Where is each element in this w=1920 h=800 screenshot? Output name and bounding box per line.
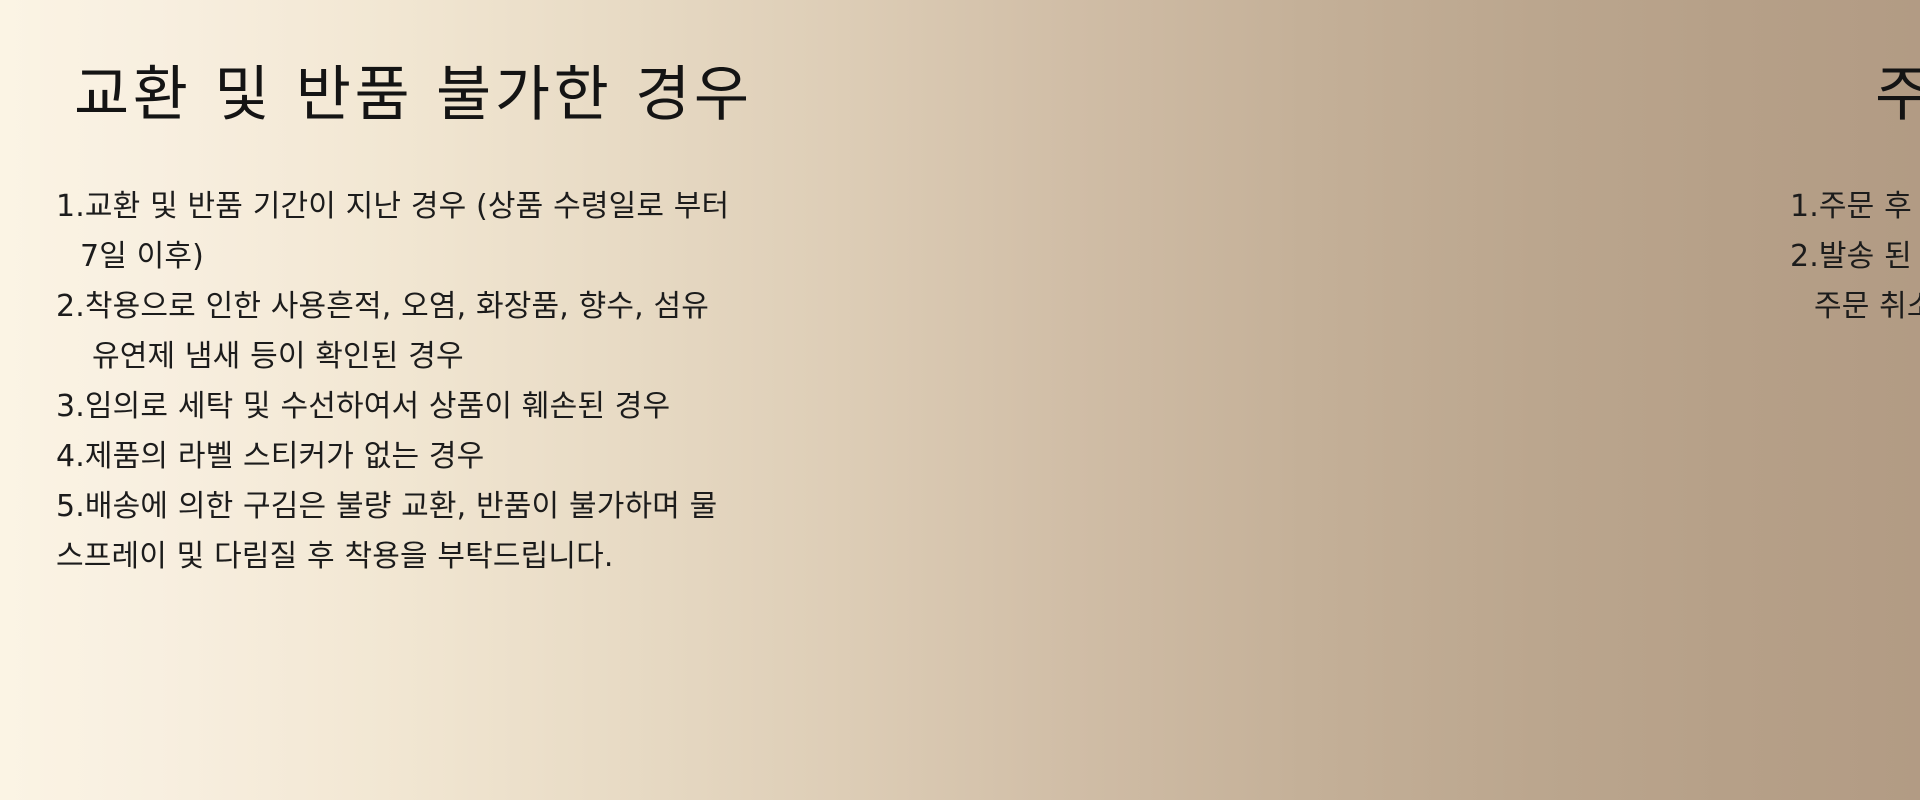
list-item: 7일 이후) bbox=[56, 232, 916, 282]
list-item: 유연제 냄새 등이 확인된 경우 bbox=[56, 332, 916, 382]
list-item: 5.배송에 의한 구김은 불량 교환, 반품이 불가하며 물 bbox=[56, 482, 916, 532]
order-cancel-column: 주문 취소 1.주문 후 발송 되기 전 까지만 가능합니다.2.발송 된 후에… bbox=[960, 0, 1920, 800]
list-item: 2.착용으로 인한 사용흔적, 오염, 화장품, 향수, 섬유 bbox=[56, 282, 916, 332]
list-item: 4.제품의 라벨 스티커가 없는 경우 bbox=[56, 432, 916, 482]
exchange-return-heading: 교환 및 반품 불가한 경우 bbox=[74, 62, 753, 128]
list-item: 스프레이 및 다림질 후 착용을 부탁드립니다. bbox=[56, 532, 916, 582]
list-item: 1.주문 후 발송 되기 전 까지만 가능합니다. bbox=[1790, 182, 1920, 232]
list-item: 주문 취소인 경우 고객님께 배송됩니다. bbox=[1790, 282, 1920, 332]
order-cancel-list: 1.주문 후 발송 되기 전 까지만 가능합니다.2.발송 된 후에는 주문 취… bbox=[1790, 182, 1920, 332]
policy-notice-page: 교환 및 반품 불가한 경우 1.교환 및 반품 기간이 지난 경우 (상품 수… bbox=[0, 0, 1920, 800]
exchange-return-column: 교환 및 반품 불가한 경우 1.교환 및 반품 기간이 지난 경우 (상품 수… bbox=[0, 0, 960, 800]
exchange-return-list: 1.교환 및 반품 기간이 지난 경우 (상품 수령일로 부터7일 이후)2.착… bbox=[56, 182, 916, 582]
order-cancel-heading: 주문 취소 bbox=[1875, 62, 1920, 128]
list-item: 3.임의로 세탁 및 수선하여서 상품이 훼손된 경우 bbox=[56, 382, 916, 432]
list-item: 1.교환 및 반품 기간이 지난 경우 (상품 수령일로 부터 bbox=[56, 182, 916, 232]
list-item: 2.발송 된 후에는 주문 취소가 불가능하며, 발송 후 bbox=[1790, 232, 1920, 282]
